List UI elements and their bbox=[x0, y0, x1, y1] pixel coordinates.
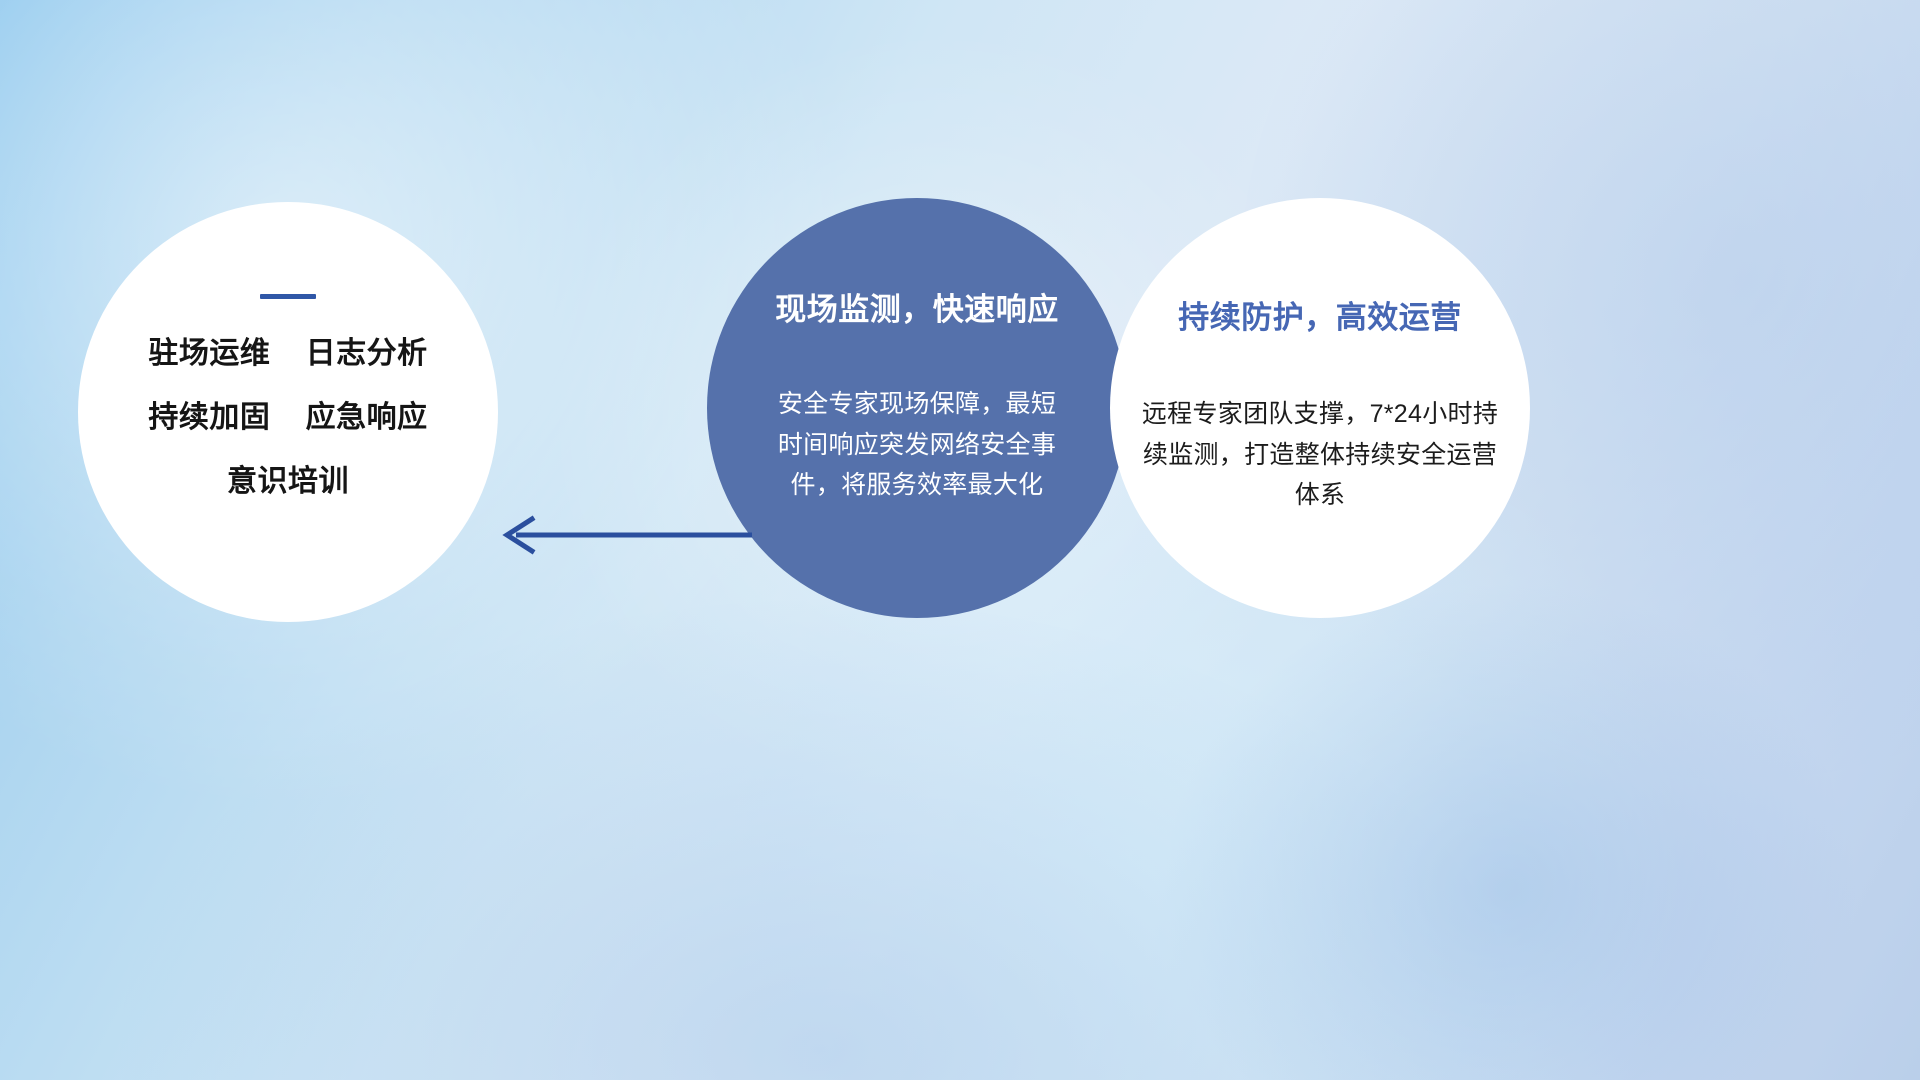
capability-line-2: 持续加固 应急响应 bbox=[78, 403, 498, 433]
onsite-monitoring-title: 现场监测，快速响应 bbox=[775, 284, 1059, 329]
horizontal-rule-icon bbox=[260, 294, 316, 299]
arrow-left-icon bbox=[486, 515, 754, 555]
continuous-protection-title: 持续防护，高效运营 bbox=[1178, 292, 1462, 337]
slide-canvas: 驻场运维 日志分析 持续加固 应急响应 意识培训 现场监测，快速响应 安全专家现… bbox=[0, 0, 1920, 1080]
background-bloom-bottom bbox=[120, 600, 1520, 1080]
onsite-monitoring-card[interactable]: 现场监测，快速响应 安全专家现场保障，最短时间响应突发网络安全事件，将服务效率最… bbox=[707, 198, 1127, 618]
background-bloom-bottom-right bbox=[1160, 580, 1860, 1080]
continuous-protection-card[interactable]: 持续防护，高效运营 远程专家团队支撑，7*24小时持续监测，打造整体持续安全运营… bbox=[1110, 198, 1530, 618]
onsite-monitoring-body: 安全专家现场保障，最短时间响应突发网络安全事件，将服务效率最大化 bbox=[773, 384, 1061, 506]
capability-line-3: 意识培训 bbox=[78, 467, 498, 497]
continuous-protection-body: 远程专家团队支撑，7*24小时持续监测，打造整体持续安全运营体系 bbox=[1132, 394, 1508, 516]
driving-capabilities-content: 驻场运维 日志分析 持续加固 应急响应 意识培训 bbox=[78, 294, 498, 497]
capability-line-1: 驻场运维 日志分析 bbox=[78, 339, 498, 369]
driving-capabilities-card[interactable]: 驻场运维 日志分析 持续加固 应急响应 意识培训 bbox=[78, 202, 498, 622]
